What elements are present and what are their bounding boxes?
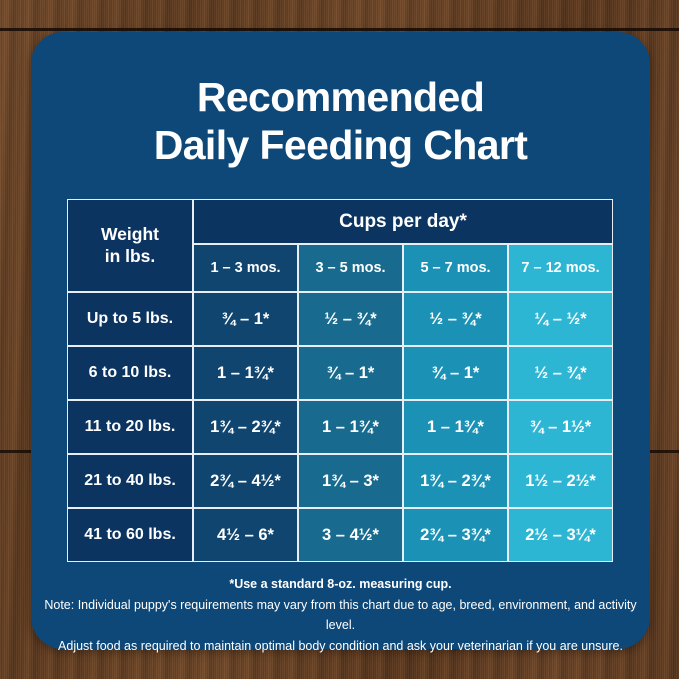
page-title: Recommended Daily Feeding Chart bbox=[31, 32, 650, 170]
feeding-amount: ¾ – 1½* bbox=[508, 400, 613, 454]
feeding-amount: 2¾ – 4½* bbox=[193, 454, 298, 508]
table-row: 41 to 60 lbs. 4½ – 6* 3 – 4½* 2¾ – 3¾* 2… bbox=[67, 508, 613, 562]
weight-label: 11 to 20 lbs. bbox=[67, 400, 193, 454]
feeding-chart-card: Recommended Daily Feeding Chart Weight i… bbox=[31, 32, 650, 649]
page-title-line-1: Recommended bbox=[31, 73, 650, 121]
feeding-amount: 3 – 4½* bbox=[298, 508, 403, 562]
weight-label: 41 to 60 lbs. bbox=[67, 508, 193, 562]
weight-label: Up to 5 lbs. bbox=[67, 292, 193, 346]
age-column-header-3: 5 – 7 mos. bbox=[403, 244, 508, 292]
feeding-amount: ¾ – 1* bbox=[298, 346, 403, 400]
table-header: Weight in lbs. Cups per day* 1 – 3 mos. … bbox=[67, 199, 613, 292]
feeding-amount: 1¾ – 2¾* bbox=[403, 454, 508, 508]
feeding-amount: 1 – 1¾* bbox=[193, 346, 298, 400]
weight-label: 21 to 40 lbs. bbox=[67, 454, 193, 508]
footnotes: *Use a standard 8-oz. measuring cup. Not… bbox=[31, 574, 650, 657]
feeding-amount: 2¾ – 3¾* bbox=[403, 508, 508, 562]
feeding-amount: 1 – 1¾* bbox=[298, 400, 403, 454]
feeding-amount: 1½ – 2½* bbox=[508, 454, 613, 508]
feeding-amount: 1¾ – 3* bbox=[298, 454, 403, 508]
weight-header-line-2: in lbs. bbox=[105, 246, 156, 266]
page-title-line-2: Daily Feeding Chart bbox=[31, 121, 650, 169]
feeding-amount: ½ – ¾* bbox=[403, 292, 508, 346]
feeding-amount: ½ – ¾* bbox=[508, 346, 613, 400]
weight-label: 6 to 10 lbs. bbox=[67, 346, 193, 400]
table-row: 6 to 10 lbs. 1 – 1¾* ¾ – 1* ¾ – 1* ½ – ¾… bbox=[67, 346, 613, 400]
table-body: Up to 5 lbs. ¾ – 1* ½ – ¾* ½ – ¾* ¼ – ½*… bbox=[67, 292, 613, 562]
feeding-amount: 4½ – 6* bbox=[193, 508, 298, 562]
header-row-primary: Weight in lbs. Cups per day* bbox=[67, 199, 613, 244]
feeding-amount: 2½ – 3¼* bbox=[508, 508, 613, 562]
feeding-chart-table: Weight in lbs. Cups per day* 1 – 3 mos. … bbox=[67, 199, 613, 562]
feeding-amount: ½ – ¾* bbox=[298, 292, 403, 346]
table-row: 21 to 40 lbs. 2¾ – 4½* 1¾ – 3* 1¾ – 2¾* … bbox=[67, 454, 613, 508]
cups-per-day-header: Cups per day* bbox=[193, 199, 613, 244]
footnote-measuring-cup: *Use a standard 8-oz. measuring cup. bbox=[31, 574, 650, 595]
weight-column-header: Weight in lbs. bbox=[67, 199, 193, 292]
age-column-header-1: 1 – 3 mos. bbox=[193, 244, 298, 292]
table-row: Up to 5 lbs. ¾ – 1* ½ – ¾* ½ – ¾* ¼ – ½* bbox=[67, 292, 613, 346]
feeding-amount: ¾ – 1* bbox=[193, 292, 298, 346]
footnote-adjust: Adjust food as required to maintain opti… bbox=[31, 636, 650, 657]
age-column-header-2: 3 – 5 mos. bbox=[298, 244, 403, 292]
feeding-amount: 1¾ – 2¾* bbox=[193, 400, 298, 454]
feeding-amount: ¼ – ½* bbox=[508, 292, 613, 346]
weight-header-line-1: Weight bbox=[101, 224, 159, 244]
feeding-amount: ¾ – 1* bbox=[403, 346, 508, 400]
table-row: 11 to 20 lbs. 1¾ – 2¾* 1 – 1¾* 1 – 1¾* ¾… bbox=[67, 400, 613, 454]
footnote-note: Note: Individual puppy's requirements ma… bbox=[31, 595, 650, 636]
feeding-amount: 1 – 1¾* bbox=[403, 400, 508, 454]
age-column-header-4: 7 – 12 mos. bbox=[508, 244, 613, 292]
